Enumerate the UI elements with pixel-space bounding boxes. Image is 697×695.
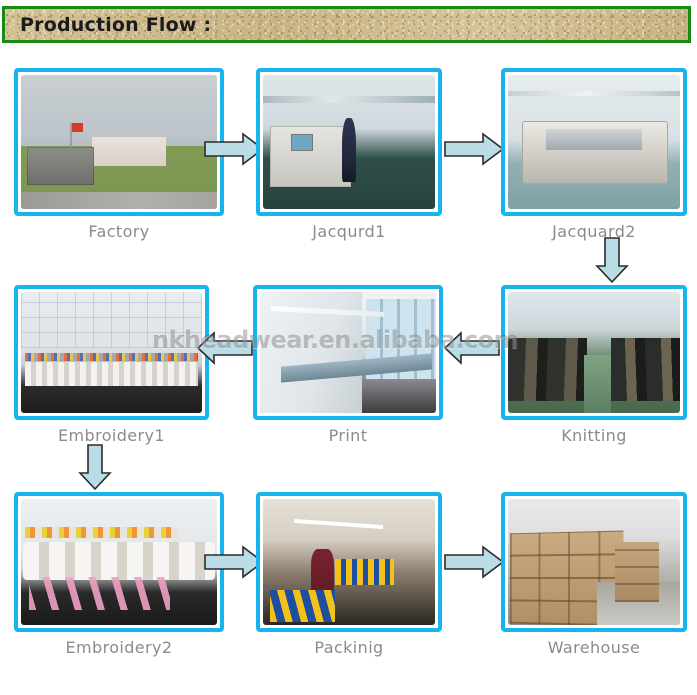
ceiling-grid-shape bbox=[21, 292, 202, 348]
step-card-jacquard2[interactable]: Jacquard2 bbox=[501, 68, 687, 241]
arrow-right-jacqurd1-to-jacquard2 bbox=[443, 132, 505, 166]
step-label-packinig: Packinig bbox=[256, 638, 442, 657]
packinig-photo bbox=[263, 499, 435, 625]
production-flow-banner: Production Flow : bbox=[2, 6, 691, 43]
embroidery2-photo bbox=[21, 499, 217, 625]
arrow-down-embroidery1-to-embroidery2 bbox=[78, 443, 112, 491]
step-label-warehouse: Warehouse bbox=[501, 638, 687, 657]
ceiling-lamp-shape bbox=[294, 519, 383, 529]
step-card-packinig[interactable]: Packinig bbox=[256, 492, 442, 657]
step-label-jacqurd1: Jacqurd1 bbox=[256, 222, 442, 241]
arrow-right-packinig-to-warehouse bbox=[443, 545, 505, 579]
step-card-embroidery1[interactable]: Embroidery1 bbox=[14, 285, 209, 445]
photo-frame-packinig[interactable] bbox=[256, 492, 442, 632]
road-shape bbox=[21, 192, 217, 209]
thread-spools-shape bbox=[25, 527, 178, 538]
photo-frame-print[interactable] bbox=[253, 285, 443, 420]
floor-shape bbox=[597, 582, 680, 625]
step-label-print: Print bbox=[253, 426, 443, 445]
arrow-down-jacquard2-to-knitting bbox=[595, 236, 629, 284]
step-label-jacquard2: Jacquard2 bbox=[501, 222, 687, 241]
photo-frame-jacquard2[interactable] bbox=[501, 68, 687, 216]
step-label-factory: Factory bbox=[14, 222, 224, 241]
jacqurd1-photo bbox=[263, 75, 435, 209]
step-label-knitting: Knitting bbox=[501, 426, 687, 445]
step-card-print[interactable]: Print bbox=[253, 285, 443, 445]
photo-frame-knitting[interactable] bbox=[501, 285, 687, 420]
aisle-shape bbox=[584, 355, 612, 413]
ceiling-rail-shape bbox=[508, 91, 680, 96]
warehouse-photo bbox=[508, 499, 680, 625]
step-card-factory[interactable]: Factory bbox=[14, 68, 224, 241]
step-card-warehouse[interactable]: Warehouse bbox=[501, 492, 687, 657]
worker-shape bbox=[311, 549, 333, 602]
arrow-left-knitting-to-print bbox=[443, 331, 501, 365]
arrow-left-print-to-embroidery1 bbox=[196, 331, 254, 365]
step-label-embroidery2: Embroidery2 bbox=[14, 638, 224, 657]
print-photo bbox=[260, 292, 436, 413]
step-card-knitting[interactable]: Knitting bbox=[501, 285, 687, 445]
photo-frame-embroidery1[interactable] bbox=[14, 285, 209, 420]
embroidery1-photo bbox=[21, 292, 202, 413]
machine-screen-shape bbox=[291, 134, 314, 151]
factory-photo bbox=[21, 75, 217, 209]
page-title: Production Flow : bbox=[5, 14, 211, 36]
overhead-beam-shape bbox=[263, 96, 435, 103]
photo-frame-warehouse[interactable] bbox=[501, 492, 687, 632]
photo-frame-embroidery2[interactable] bbox=[14, 492, 224, 632]
jacquard2-photo bbox=[508, 75, 680, 209]
step-card-jacqurd1[interactable]: Jacqurd1 bbox=[256, 68, 442, 241]
flag-icon bbox=[70, 123, 72, 150]
photo-frame-jacqurd1[interactable] bbox=[256, 68, 442, 216]
photo-frame-factory[interactable] bbox=[14, 68, 224, 216]
knitting-photo bbox=[508, 292, 680, 413]
step-card-embroidery2[interactable]: Embroidery2 bbox=[14, 492, 224, 657]
